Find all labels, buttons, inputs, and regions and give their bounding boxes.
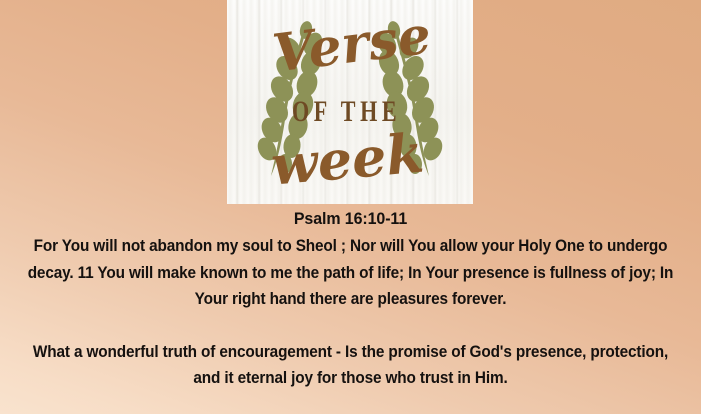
slide-canvas: Verse OF THE week Psalm 16:10-11 For You…	[0, 0, 701, 414]
verse-word-line3: week	[269, 121, 427, 198]
scripture-line: Your right hand there are pleasures fore…	[25, 286, 677, 313]
scripture-body: For You will not abandon my soul to Sheo…	[0, 233, 701, 313]
verse-text-block: Psalm 16:10-11 For You will not abandon …	[0, 204, 701, 392]
scripture-line: decay. 11 You will make known to me the …	[25, 260, 677, 287]
verse-of-the-week-artwork: Verse OF THE week	[227, 0, 473, 204]
scripture-line: For You will not abandon my soul to Sheo…	[25, 233, 677, 260]
scripture-reference: Psalm 16:10-11	[21, 208, 680, 230]
verse-of-the-week-card: Verse OF THE week	[227, 0, 473, 204]
reflection-line: and it eternal joy for those who trust i…	[25, 365, 677, 392]
reflection-body: What a wonderful truth of encouragement …	[0, 339, 701, 392]
reflection-line: What a wonderful truth of encouragement …	[25, 339, 677, 366]
